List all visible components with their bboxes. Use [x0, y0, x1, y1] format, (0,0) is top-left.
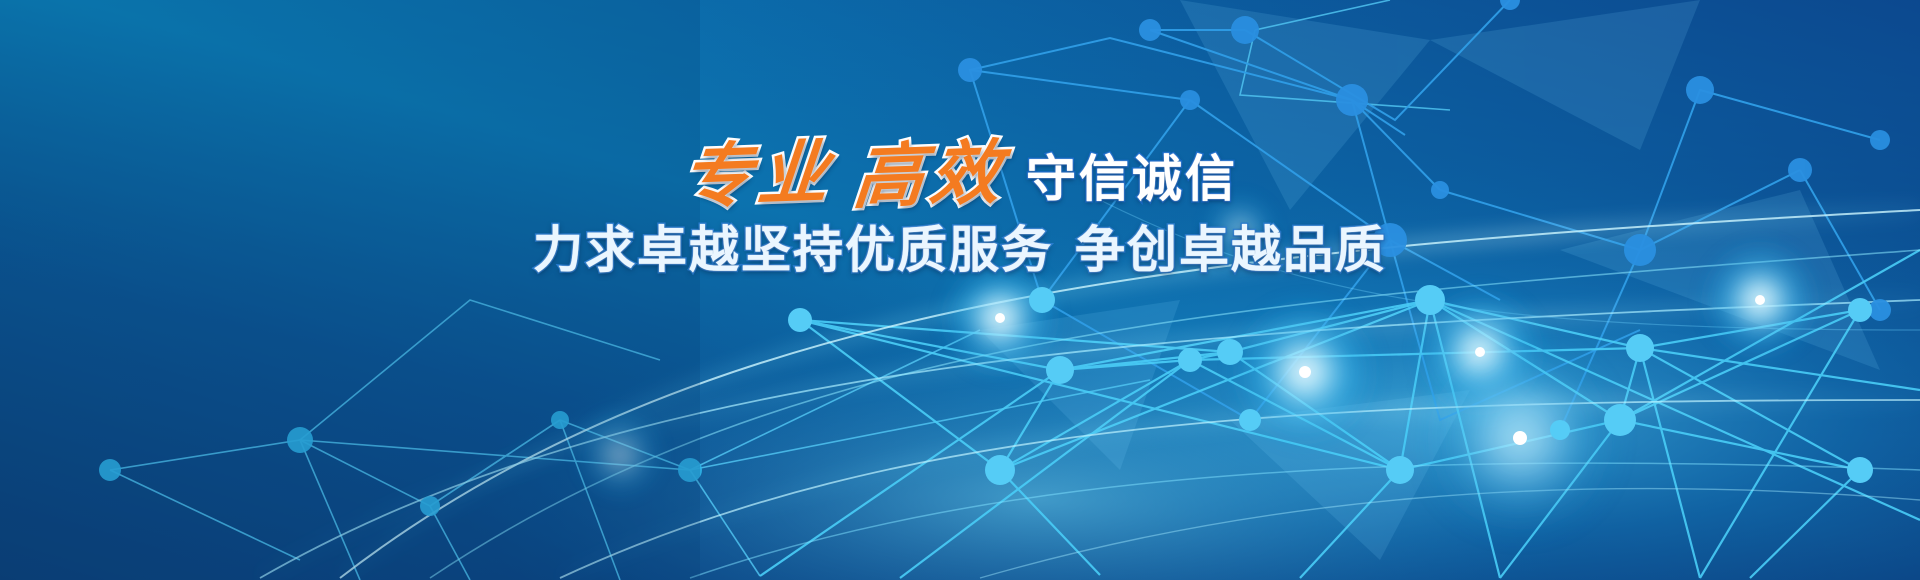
background-artwork — [0, 0, 1920, 580]
promo-banner: 专业 高效 守信诚信 力求卓越坚持优质服务争创卓越品质 — [0, 0, 1920, 580]
